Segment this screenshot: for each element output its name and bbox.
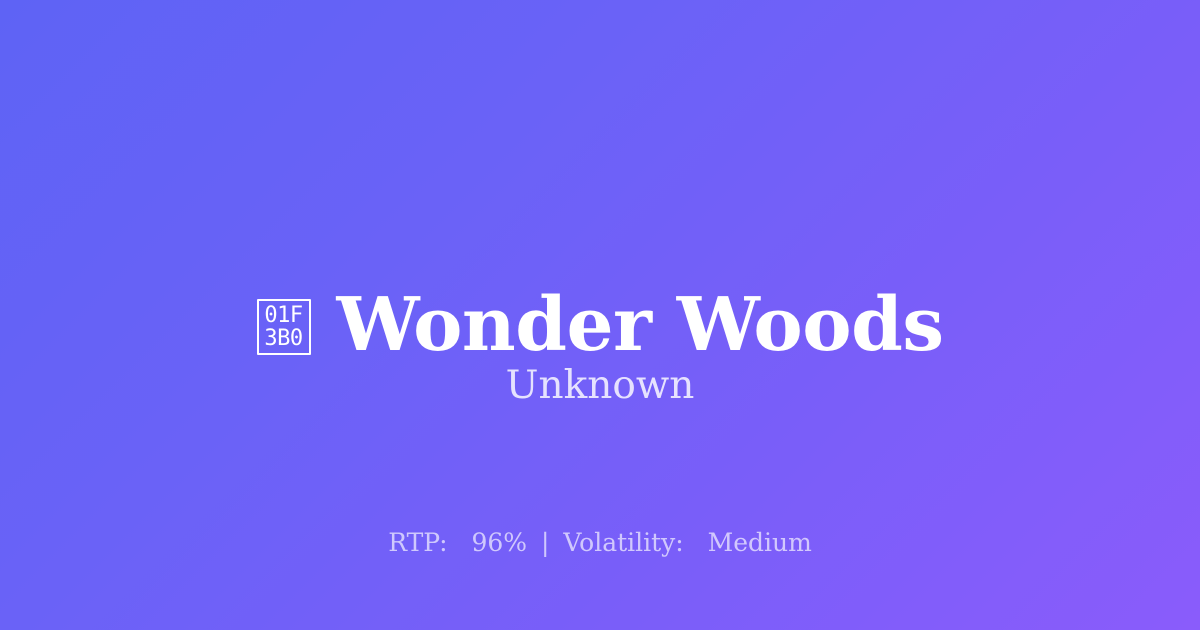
- slot-machine-icon-codepoint-bottom: 3B0: [264, 327, 302, 350]
- volatility-label: Volatility:: [563, 528, 683, 557]
- game-stats: RTP: 96% | Volatility: Medium: [0, 527, 1200, 559]
- slot-machine-icon-codepoint-top: 01F: [264, 304, 302, 327]
- volatility-value: Medium: [708, 528, 812, 557]
- stats-separator: |: [535, 528, 555, 557]
- game-provider: Unknown: [0, 362, 1200, 410]
- slot-machine-icon: 01F 3B0: [257, 299, 311, 355]
- rtp-label: RTP:: [388, 528, 447, 557]
- game-preview-card: 01F 3B0 Wonder Woods Unknown RTP: 96% | …: [0, 0, 1200, 630]
- rtp-value: 96%: [471, 528, 527, 557]
- game-title: Wonder Woods: [337, 288, 944, 362]
